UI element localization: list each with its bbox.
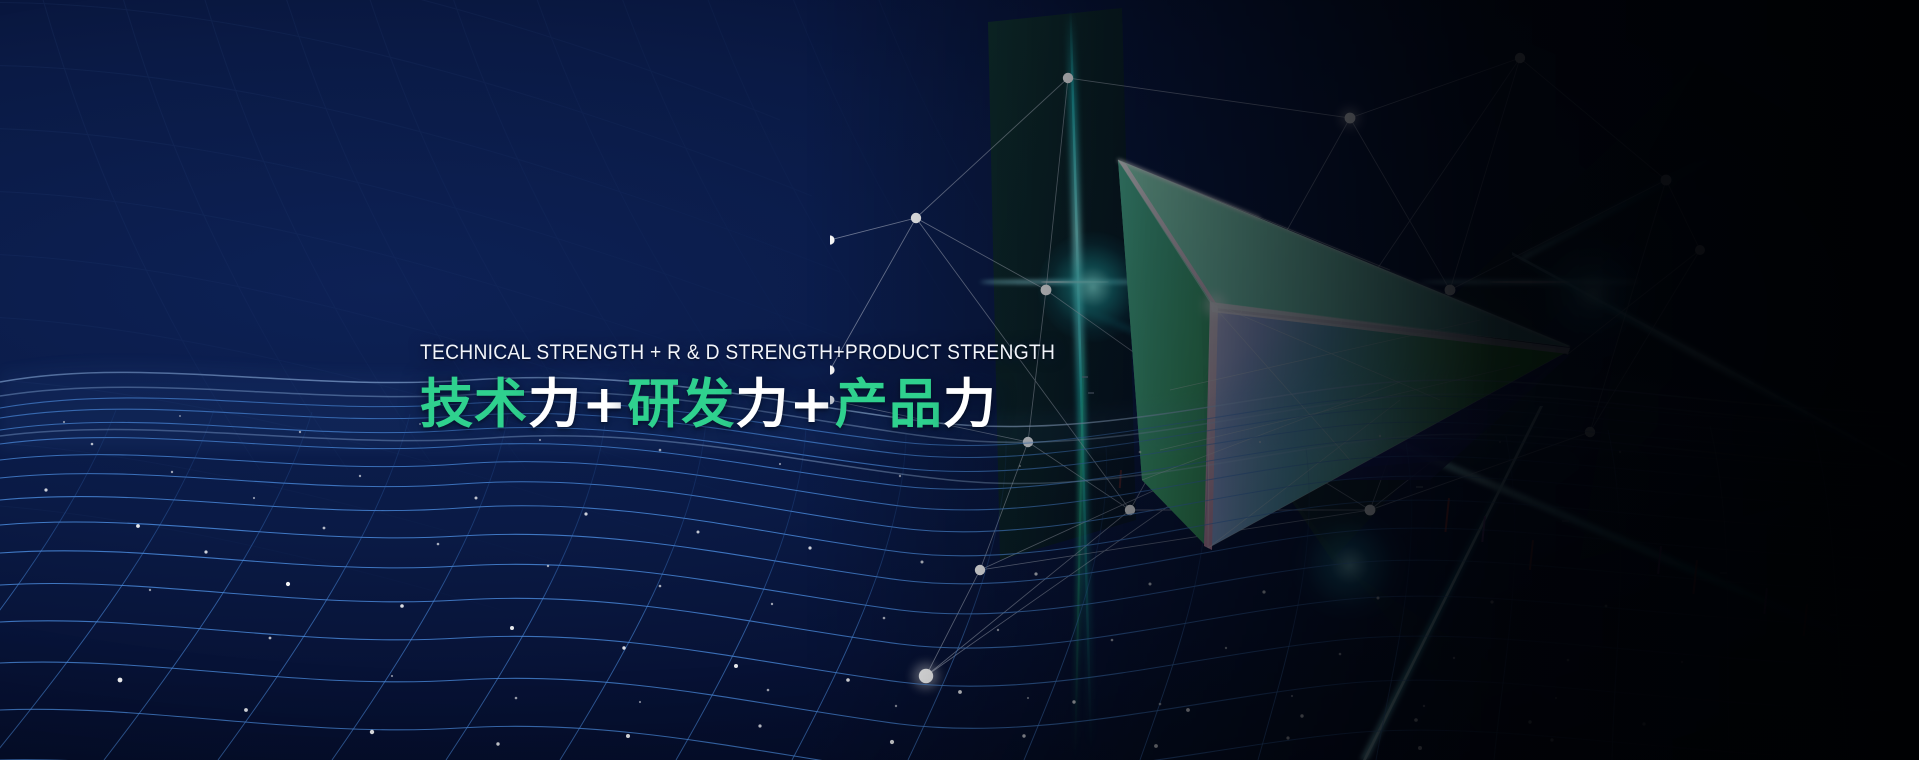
headline-seg-7: 力: [943, 374, 997, 435]
headline-chinese: 技术力+研发力+产品力: [420, 375, 1040, 435]
hero-banner: TECHNICAL STRENGTH + R & D STRENGTH+PROD…: [0, 0, 1919, 760]
top-left-wire-grid: [0, 0, 1000, 610]
headline-seg-0: 技术: [420, 374, 528, 435]
3d-play-arrow-prism: [1100, 150, 1580, 570]
headline-seg-6: 产品: [835, 374, 943, 435]
headline-seg-1: 力: [528, 374, 582, 435]
headline-seg-3: 研发: [627, 374, 735, 435]
headline-seg-4: 力: [735, 374, 789, 435]
eyebrow-tagline: TECHNICAL STRENGTH + R & D STRENGTH+PROD…: [420, 340, 975, 364]
headline-block: TECHNICAL STRENGTH + R & D STRENGTH+PROD…: [420, 340, 1040, 435]
headline-seg-5: +: [789, 374, 834, 435]
headline-seg-2: +: [582, 374, 627, 435]
